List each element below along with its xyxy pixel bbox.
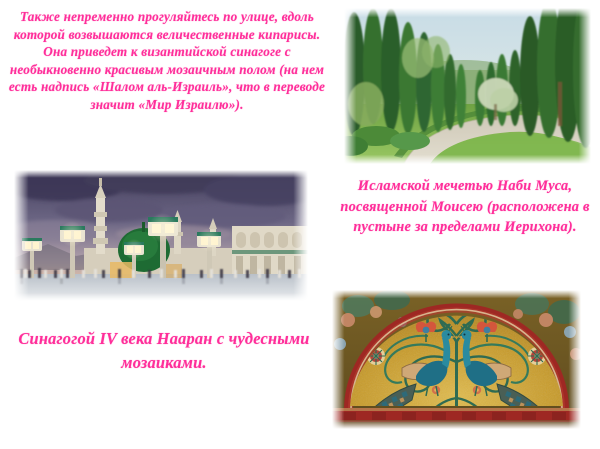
naaran-peacock-mosaic-photo bbox=[332, 290, 581, 429]
mosque-image bbox=[14, 170, 308, 301]
cypress-alley-photo bbox=[344, 8, 591, 164]
mosaic-image bbox=[332, 290, 581, 429]
presentation-slide: Также непременно прогуляйтесь по улице, … bbox=[0, 0, 600, 449]
cypress-alley-image bbox=[344, 8, 591, 164]
nabi-musa-mosque-photo bbox=[14, 170, 308, 301]
mosque-caption: Исламской мечетью Наби Муса, посвященной… bbox=[338, 176, 592, 238]
intro-caption: Также непременно прогуляйтесь по улице, … bbox=[6, 8, 328, 113]
synagogue-caption: Синагогой IV века Нааран с чудесными моз… bbox=[14, 327, 314, 375]
